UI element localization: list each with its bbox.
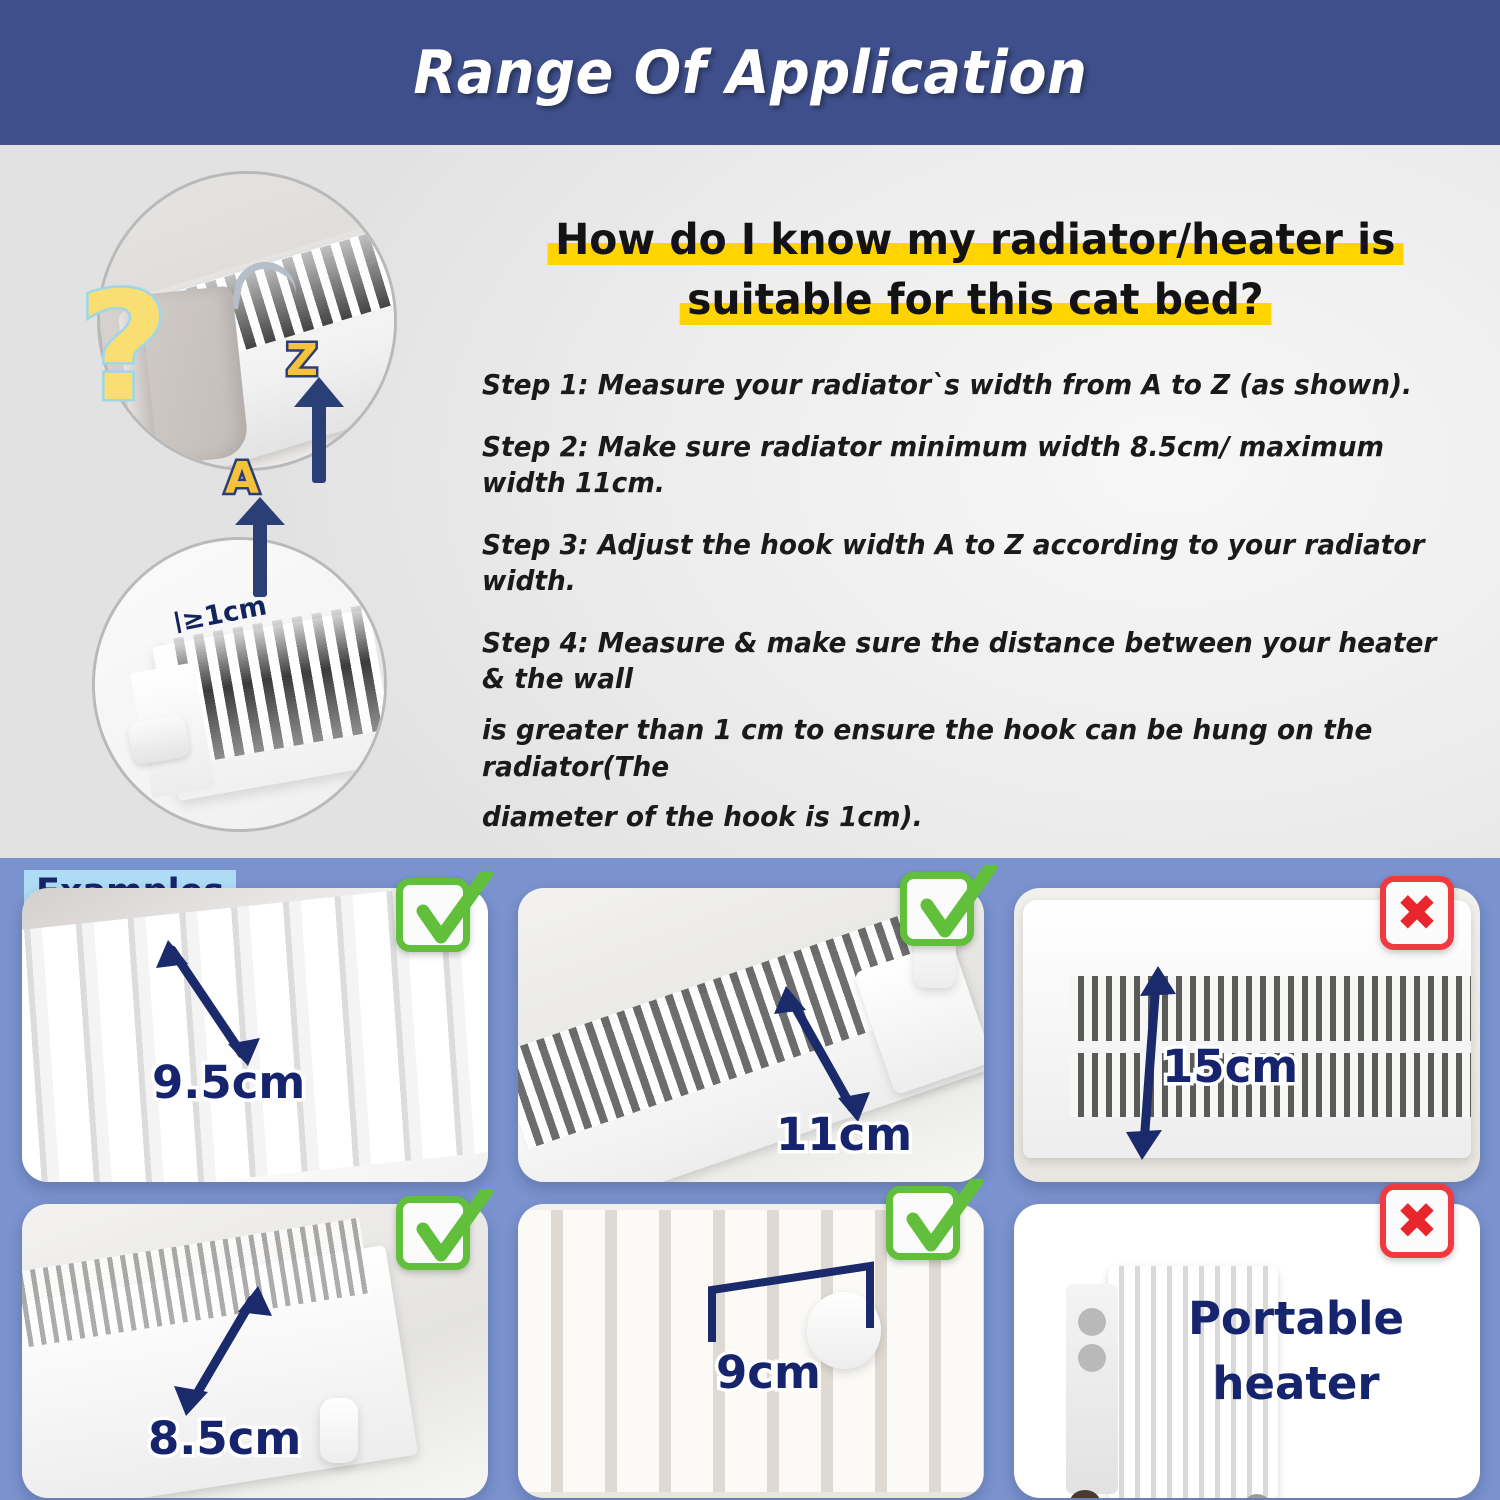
step-item: is greater than 1 cm to ensure the hook … — [482, 712, 1442, 785]
z-arrow-icon — [292, 377, 346, 483]
status-badge: ✖ — [1380, 1184, 1454, 1258]
question-mark-icon: ? — [78, 273, 169, 423]
example-card[interactable]: 8.5cm — [22, 1204, 488, 1498]
check-icon — [409, 871, 493, 955]
question-heading: How do I know my radiator/heater is suit… — [470, 213, 1480, 333]
check-icon — [913, 865, 997, 949]
status-badge — [396, 1196, 470, 1270]
examples-section: Examples 9.5cm — [0, 858, 1500, 1500]
status-badge — [886, 1186, 960, 1260]
step-item: Step 4: Measure & make sure the distance… — [482, 625, 1442, 698]
status-badge — [396, 878, 470, 952]
example-card[interactable]: 11cm — [518, 888, 984, 1182]
page-title: Range Of Application — [413, 38, 1087, 108]
example-card[interactable]: 9cm — [518, 1204, 984, 1498]
step-item: diameter of the hook is 1cm). — [482, 799, 1442, 836]
example-card[interactable]: 9.5cm — [22, 888, 488, 1182]
caption-line-1: Portable — [1146, 1286, 1446, 1351]
example-card[interactable]: 15cm ✖ — [1014, 888, 1480, 1182]
status-badge: ✖ — [1380, 876, 1454, 950]
step-item: Step 2: Make sure radiator minimum width… — [482, 429, 1442, 502]
status-badge — [900, 872, 974, 946]
example-measure-label: 8.5cm — [148, 1412, 301, 1465]
dimension-bracket-icon — [702, 1238, 882, 1348]
cross-icon: ✖ — [1396, 1196, 1438, 1246]
question-line-2: suitable for this cat bed? — [679, 273, 1271, 329]
check-icon — [409, 1189, 493, 1273]
radiator-valve — [320, 1398, 357, 1463]
example-measure-label: 9cm — [716, 1346, 821, 1399]
dimension-arrow-icon — [168, 1282, 278, 1422]
example-measure-label: 15cm — [1162, 1040, 1298, 1093]
examples-grid: 9.5cm 11cm — [22, 888, 1480, 1498]
caption-line-2: heater — [1146, 1351, 1446, 1416]
example-measure-label: 11cm — [776, 1108, 912, 1161]
heater-dial — [1078, 1344, 1106, 1372]
label-z: Z — [286, 335, 318, 386]
cross-icon: ✖ — [1396, 888, 1438, 938]
step-item: Step 3: Adjust the hook width A to Z acc… — [482, 527, 1442, 600]
example-measure-label: 9.5cm — [152, 1056, 305, 1109]
question-line-1: How do I know my radiator/heater is — [547, 213, 1403, 269]
a-arrow-icon — [233, 497, 287, 597]
page-header: Range Of Application — [0, 0, 1500, 145]
step-item: Step 1: Measure your radiator`s width fr… — [482, 367, 1442, 404]
portable-heater-caption: Portable heater — [1146, 1286, 1446, 1417]
example-card[interactable]: Portable heater ✖ — [1014, 1204, 1480, 1498]
label-a: A — [225, 453, 259, 504]
check-icon — [899, 1179, 983, 1263]
upper-section: Z A ? I≥1cm How do I know my radiator/he… — [0, 145, 1500, 858]
heater-dial — [1078, 1308, 1106, 1336]
dimension-arrow-icon — [150, 934, 270, 1074]
